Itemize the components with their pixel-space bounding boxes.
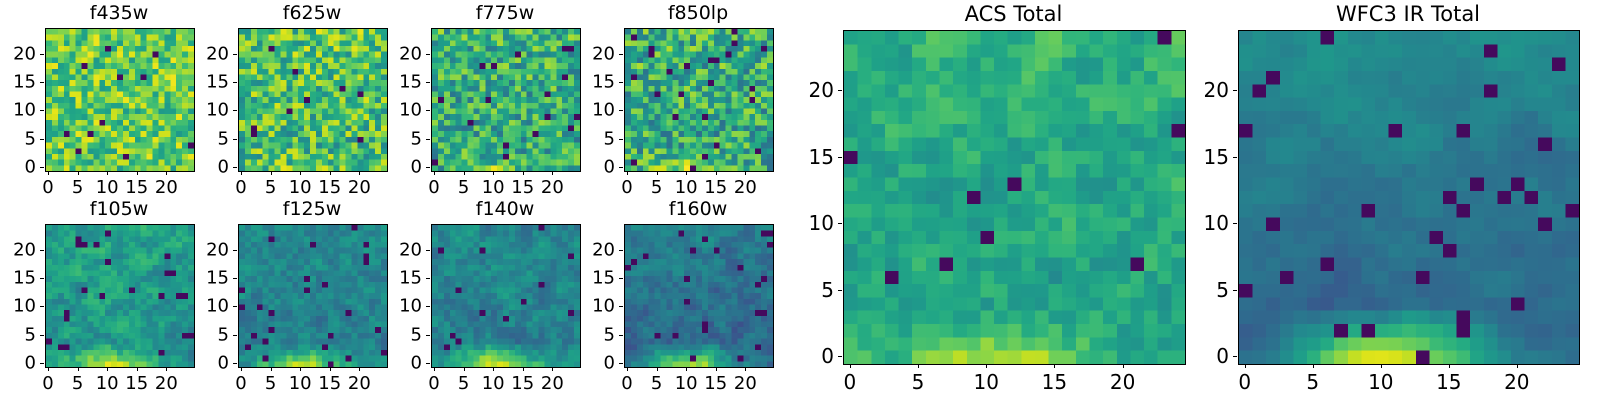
y-tick — [233, 167, 237, 168]
x-tick — [1313, 364, 1314, 368]
y-tick — [838, 90, 842, 91]
panel-acs-total: ACS Total0510152005101520 — [799, 2, 1230, 401]
y-tick — [838, 290, 842, 291]
y-tick-label: 5 — [580, 324, 615, 345]
y-tick-label: 15 — [580, 71, 615, 92]
x-tick-label: 20 — [348, 177, 371, 198]
y-tick-label: 15 — [387, 71, 422, 92]
plot-area[interactable] — [431, 224, 581, 368]
y-tick — [619, 82, 623, 83]
y-tick — [40, 335, 44, 336]
y-tick-label: 20 — [799, 78, 834, 102]
x-tick — [523, 367, 524, 371]
y-tick-label: 20 — [387, 239, 422, 260]
y-tick-label: 15 — [194, 267, 229, 288]
y-tick-label: 0 — [387, 157, 422, 178]
y-tick-label: 5 — [387, 128, 422, 149]
x-tick — [166, 171, 167, 175]
y-tick-label: 0 — [799, 344, 834, 368]
plot-area[interactable] — [45, 224, 195, 368]
plot-area[interactable] — [45, 28, 195, 172]
panel-wfc3-ir-total: WFC3 IR Total0510152005101520 — [1194, 2, 1600, 401]
x-tick-label: 5 — [458, 373, 469, 394]
panel-title: f625w — [238, 2, 386, 24]
x-tick — [137, 171, 138, 175]
y-tick — [426, 363, 430, 364]
y-tick-label: 0 — [1194, 344, 1229, 368]
panel-f850lp: f850lp0510152005101520 — [580, 2, 818, 208]
y-tick — [619, 335, 623, 336]
y-tick-label: 0 — [1, 353, 36, 374]
y-tick-label: 5 — [1, 324, 36, 345]
y-tick — [233, 306, 237, 307]
y-tick — [40, 54, 44, 55]
figure-canvas: f435w0510152005101520f625w05101520051015… — [0, 0, 1600, 400]
x-tick-label: 15 — [704, 177, 727, 198]
y-tick — [233, 278, 237, 279]
x-tick-label: 20 — [1504, 370, 1529, 394]
y-tick-label: 15 — [580, 267, 615, 288]
x-tick — [271, 367, 272, 371]
x-tick-label: 10 — [675, 373, 698, 394]
x-tick — [300, 367, 301, 371]
y-tick — [233, 139, 237, 140]
y-tick — [40, 363, 44, 364]
y-tick-label: 0 — [387, 353, 422, 374]
heatmap-image — [46, 29, 194, 171]
x-tick-label: 15 — [318, 373, 341, 394]
heatmap-image — [625, 29, 773, 171]
x-tick-label: 10 — [289, 177, 312, 198]
heatmap-image — [239, 29, 387, 171]
y-tick — [426, 250, 430, 251]
x-tick — [745, 171, 746, 175]
x-tick — [552, 171, 553, 175]
x-tick-label: 20 — [155, 373, 178, 394]
y-tick — [426, 335, 430, 336]
x-tick-label: 15 — [125, 177, 148, 198]
panel-title: f850lp — [624, 2, 772, 24]
x-tick — [918, 364, 919, 368]
x-tick — [686, 367, 687, 371]
plot-area[interactable] — [238, 224, 388, 368]
panel-title: ACS Total — [843, 2, 1184, 26]
y-tick-label: 20 — [1, 43, 36, 64]
y-tick — [40, 110, 44, 111]
y-tick-label: 10 — [194, 100, 229, 121]
y-tick — [426, 139, 430, 140]
y-tick — [426, 54, 430, 55]
y-tick — [40, 167, 44, 168]
plot-area[interactable] — [624, 224, 774, 368]
x-tick-label: 5 — [458, 177, 469, 198]
x-tick — [523, 171, 524, 175]
x-tick-label: 0 — [42, 177, 53, 198]
y-tick-label: 20 — [1, 239, 36, 260]
x-tick — [1123, 364, 1124, 368]
x-tick — [300, 171, 301, 175]
y-tick-label: 0 — [1, 157, 36, 178]
x-tick — [464, 367, 465, 371]
panel-title: f160w — [624, 198, 772, 220]
y-tick — [838, 157, 842, 158]
y-tick-label: 20 — [387, 43, 422, 64]
y-tick-label: 5 — [799, 278, 834, 302]
x-tick — [627, 171, 628, 175]
y-tick — [233, 363, 237, 364]
x-tick — [241, 367, 242, 371]
y-tick — [838, 356, 842, 357]
x-tick — [657, 367, 658, 371]
x-tick — [107, 171, 108, 175]
heatmap-image — [46, 225, 194, 367]
x-tick-label: 20 — [541, 177, 564, 198]
y-tick — [426, 278, 430, 279]
y-tick-label: 0 — [580, 353, 615, 374]
y-tick — [233, 54, 237, 55]
x-tick — [434, 367, 435, 371]
x-tick-label: 20 — [541, 373, 564, 394]
y-tick — [619, 363, 623, 364]
y-tick-label: 0 — [194, 157, 229, 178]
x-tick-label: 10 — [1368, 370, 1393, 394]
y-tick-label: 15 — [194, 71, 229, 92]
x-tick — [1449, 364, 1450, 368]
x-tick-label: 15 — [511, 177, 534, 198]
y-tick — [426, 167, 430, 168]
y-tick-label: 15 — [1, 267, 36, 288]
x-tick — [48, 171, 49, 175]
x-tick — [716, 171, 717, 175]
y-tick-label: 5 — [194, 324, 229, 345]
y-tick-label: 15 — [1194, 145, 1229, 169]
y-tick-label: 10 — [1, 296, 36, 317]
y-tick-label: 10 — [580, 296, 615, 317]
x-tick-label: 15 — [511, 373, 534, 394]
x-tick — [464, 171, 465, 175]
y-tick — [40, 306, 44, 307]
x-tick — [1517, 364, 1518, 368]
heatmap-image — [1239, 31, 1579, 364]
y-tick-label: 5 — [1, 128, 36, 149]
x-tick — [137, 367, 138, 371]
y-tick-label: 20 — [194, 239, 229, 260]
y-tick-label: 10 — [387, 100, 422, 121]
x-tick — [986, 364, 987, 368]
x-tick — [166, 367, 167, 371]
heatmap-image — [239, 225, 387, 367]
x-tick-label: 0 — [428, 373, 439, 394]
x-tick-label: 0 — [621, 373, 632, 394]
y-tick-label: 15 — [1, 71, 36, 92]
y-tick — [838, 223, 842, 224]
y-tick-label: 10 — [799, 211, 834, 235]
x-tick-label: 15 — [125, 373, 148, 394]
panel-title: f125w — [238, 198, 386, 220]
y-tick-label: 5 — [580, 128, 615, 149]
x-tick — [271, 171, 272, 175]
x-tick-label: 5 — [265, 177, 276, 198]
x-tick-label: 20 — [155, 177, 178, 198]
x-tick-label: 0 — [428, 177, 439, 198]
y-tick — [619, 306, 623, 307]
y-tick — [233, 335, 237, 336]
x-tick-label: 10 — [96, 373, 119, 394]
y-tick — [426, 82, 430, 83]
x-tick — [493, 367, 494, 371]
x-tick-label: 10 — [482, 373, 505, 394]
y-tick-label: 20 — [194, 43, 229, 64]
x-tick-label: 20 — [734, 177, 757, 198]
x-tick — [107, 367, 108, 371]
panel-title: f140w — [431, 198, 579, 220]
x-tick — [1245, 364, 1246, 368]
panel-f160w: f160w0510152005101520 — [580, 198, 818, 404]
x-tick-label: 5 — [912, 370, 925, 394]
y-tick-label: 10 — [580, 100, 615, 121]
x-tick-label: 20 — [1110, 370, 1135, 394]
y-tick — [619, 54, 623, 55]
y-tick-label: 0 — [580, 157, 615, 178]
y-tick — [233, 250, 237, 251]
y-tick-label: 10 — [1, 100, 36, 121]
y-tick-label: 5 — [387, 324, 422, 345]
x-tick — [850, 364, 851, 368]
plot-area[interactable] — [431, 28, 581, 172]
y-tick — [619, 167, 623, 168]
y-tick — [426, 110, 430, 111]
x-tick — [330, 367, 331, 371]
y-tick-label: 20 — [580, 239, 615, 260]
x-tick-label: 0 — [843, 370, 856, 394]
x-tick-label: 20 — [734, 373, 757, 394]
x-tick-label: 15 — [1042, 370, 1067, 394]
y-tick-label: 0 — [194, 353, 229, 374]
x-tick-label: 10 — [96, 177, 119, 198]
x-tick — [552, 367, 553, 371]
x-tick-label: 10 — [289, 373, 312, 394]
y-tick-label: 5 — [194, 128, 229, 149]
x-tick-label: 5 — [72, 373, 83, 394]
y-tick — [426, 306, 430, 307]
y-tick-label: 10 — [387, 296, 422, 317]
y-tick — [619, 139, 623, 140]
x-tick — [78, 367, 79, 371]
x-tick — [1381, 364, 1382, 368]
y-tick-label: 15 — [387, 267, 422, 288]
y-tick-label: 10 — [1194, 211, 1229, 235]
y-tick — [40, 278, 44, 279]
panel-title: f775w — [431, 2, 579, 24]
x-tick — [434, 171, 435, 175]
x-tick — [493, 171, 494, 175]
x-tick-label: 20 — [348, 373, 371, 394]
panel-title: f105w — [45, 198, 193, 220]
y-tick — [233, 110, 237, 111]
panel-title: WFC3 IR Total — [1238, 2, 1578, 26]
x-tick-label: 5 — [651, 373, 662, 394]
plot-area[interactable] — [238, 28, 388, 172]
x-tick-label: 10 — [675, 177, 698, 198]
x-tick-label: 5 — [651, 177, 662, 198]
y-tick-label: 15 — [799, 145, 834, 169]
x-tick-label: 10 — [973, 370, 998, 394]
y-tick — [1233, 290, 1237, 291]
panel-title: f435w — [45, 2, 193, 24]
y-tick — [619, 110, 623, 111]
heatmap-image — [844, 31, 1185, 364]
x-tick-label: 5 — [72, 177, 83, 198]
x-tick — [657, 171, 658, 175]
x-tick-label: 0 — [1238, 370, 1251, 394]
y-tick — [1233, 356, 1237, 357]
heatmap-image — [432, 29, 580, 171]
y-tick — [40, 82, 44, 83]
x-tick-label: 10 — [482, 177, 505, 198]
x-tick — [745, 367, 746, 371]
x-tick — [330, 171, 331, 175]
x-tick-label: 5 — [265, 373, 276, 394]
y-tick — [1233, 223, 1237, 224]
x-tick-label: 0 — [621, 177, 632, 198]
y-tick-label: 10 — [194, 296, 229, 317]
x-tick-label: 5 — [1306, 370, 1319, 394]
x-tick-label: 15 — [318, 177, 341, 198]
x-tick — [716, 367, 717, 371]
x-tick — [359, 171, 360, 175]
plot-area[interactable] — [624, 28, 774, 172]
y-tick — [40, 250, 44, 251]
y-tick — [619, 278, 623, 279]
x-tick-label: 0 — [235, 373, 246, 394]
heatmap-image — [625, 225, 773, 367]
y-tick — [1233, 157, 1237, 158]
x-tick — [241, 171, 242, 175]
x-tick — [48, 367, 49, 371]
y-tick — [1233, 90, 1237, 91]
plot-area[interactable] — [843, 30, 1186, 365]
x-tick — [686, 171, 687, 175]
x-tick-label: 0 — [42, 373, 53, 394]
x-tick — [627, 367, 628, 371]
y-tick — [619, 250, 623, 251]
plot-area[interactable] — [1238, 30, 1580, 365]
heatmap-image — [432, 225, 580, 367]
x-tick-label: 15 — [704, 373, 727, 394]
x-tick — [359, 367, 360, 371]
x-tick — [78, 171, 79, 175]
x-tick-label: 15 — [1436, 370, 1461, 394]
y-tick — [233, 82, 237, 83]
y-tick-label: 20 — [580, 43, 615, 64]
x-tick-label: 0 — [235, 177, 246, 198]
y-tick — [40, 139, 44, 140]
x-tick — [1054, 364, 1055, 368]
y-tick-label: 20 — [1194, 78, 1229, 102]
y-tick-label: 5 — [1194, 278, 1229, 302]
